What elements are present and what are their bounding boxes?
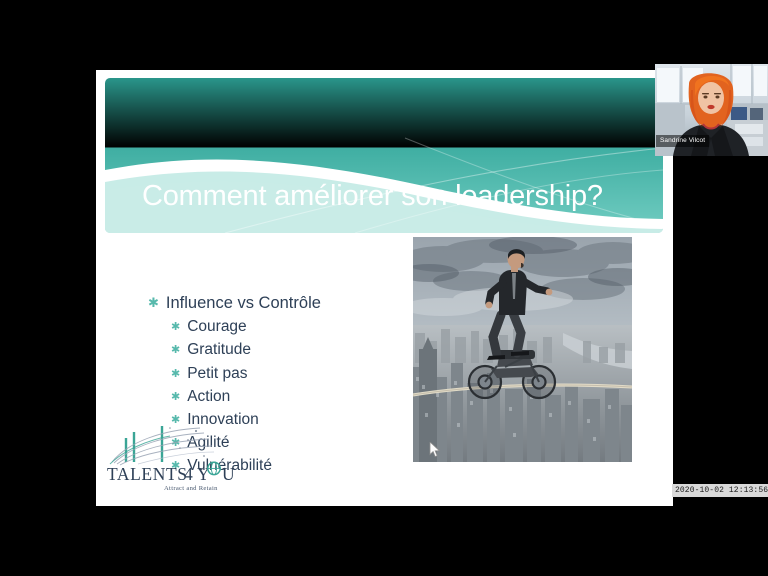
bullet-label: Influence vs Contrôle (166, 292, 321, 315)
tightrope-motorcycle-photo (413, 237, 632, 462)
svg-text:TALENTS: TALENTS (107, 464, 188, 484)
asterisk-bullet-icon: ✱ (171, 369, 180, 380)
participant-name-label: Sandrine Vilcot (656, 135, 709, 147)
bullet-label: Petit pas (187, 362, 247, 385)
company-logo: TALENTS 4 Y U Attract and Retain (104, 422, 254, 494)
recording-timestamp: 2020-10-02 12:13:56 (672, 484, 768, 497)
bullet-item: ✱ Influence vs Contrôle (148, 292, 438, 315)
tightrope-motorcycle-illustration (413, 237, 632, 462)
asterisk-bullet-icon: ✱ (171, 345, 180, 356)
bullet-label: Action (187, 385, 230, 408)
asterisk-bullet-icon: ✱ (148, 296, 159, 309)
bullet-item: ✱ Gratitude (148, 338, 438, 361)
slide-title: Comment améliorer son leadership? (142, 182, 652, 211)
bullet-item: ✱ Petit pas (148, 362, 438, 385)
bullet-label: Gratitude (187, 338, 251, 361)
presentation-slide: Comment améliorer son leadership? ✱ Infl… (96, 70, 673, 506)
bullet-item: ✱ Courage (148, 315, 438, 338)
bullet-label: Courage (187, 315, 246, 338)
svg-text:4: 4 (184, 464, 193, 484)
svg-text:Attract and Retain: Attract and Retain (164, 485, 218, 492)
asterisk-bullet-icon: ✱ (171, 322, 180, 333)
bullet-item: ✱ Action (148, 385, 438, 408)
talents-4-you-logo-graphic: TALENTS 4 Y U Attract and Retain (104, 422, 254, 494)
webcam-video-tile[interactable]: Sandrine Vilcot (655, 64, 768, 156)
meeting-screenshare-viewport: Comment améliorer son leadership? ✱ Infl… (0, 0, 768, 576)
asterisk-bullet-icon: ✱ (171, 392, 180, 403)
svg-text:U: U (222, 464, 235, 484)
